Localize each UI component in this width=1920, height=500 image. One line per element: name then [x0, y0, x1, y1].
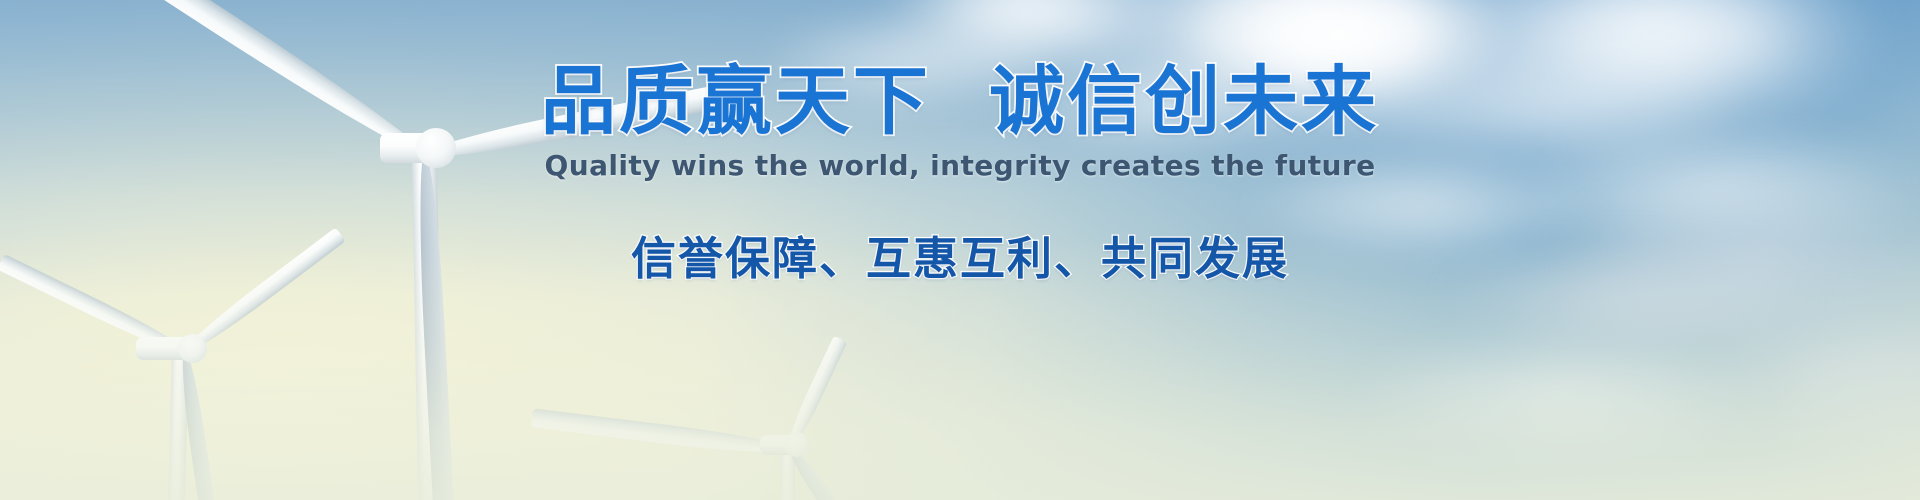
- hero-banner: 品质赢天下 诚信创未来 Quality wins the world, inte…: [0, 0, 1920, 500]
- banner-subtitle: Quality wins the world, integrity create…: [0, 149, 1920, 182]
- banner-tagline: 信誉保障、互惠互利、共同发展: [0, 222, 1920, 287]
- banner-headline: 品质赢天下 诚信创未来: [0, 62, 1920, 140]
- banner-copy: 品质赢天下 诚信创未来 Quality wins the world, inte…: [0, 62, 1920, 287]
